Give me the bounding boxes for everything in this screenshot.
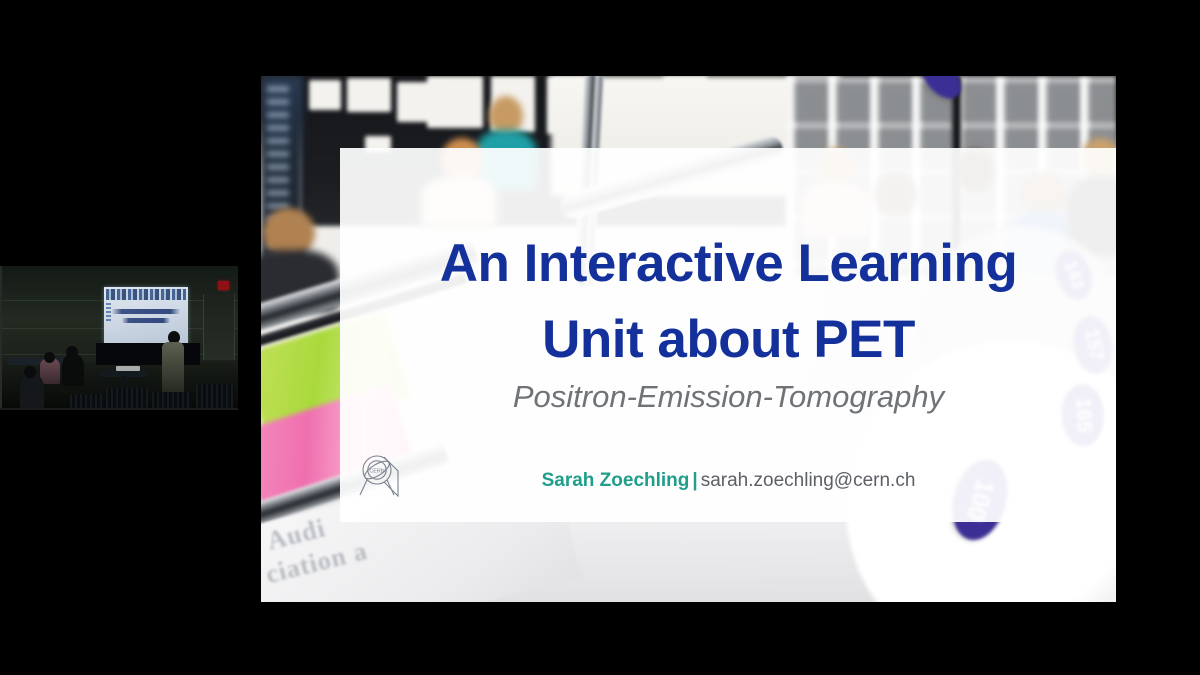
- pip-screen-title-line1: [112, 309, 180, 314]
- pip-screen-header: [106, 289, 186, 300]
- slide-subtitle: Positron-Emission-Tomography: [340, 379, 1116, 415]
- pip-audience-head: [24, 366, 36, 378]
- bg-poster: [347, 78, 391, 112]
- pip-left-border: [0, 266, 2, 410]
- pip-audience-head: [44, 352, 55, 363]
- pip-chair-row: [106, 388, 148, 410]
- pip-audience-person: [20, 374, 44, 410]
- bg-poster: [427, 76, 483, 128]
- author-separator: |: [689, 470, 700, 491]
- bg-poster: [309, 80, 341, 110]
- cern-logo-icon: CERN: [358, 450, 402, 500]
- webcam-pip[interactable]: [0, 266, 238, 410]
- pip-screen-sidebar: [106, 303, 111, 323]
- pip-bottom-border: [0, 408, 238, 410]
- pip-presenter-body: [162, 342, 184, 394]
- slide-title: An Interactive Learning Unit about PET: [340, 226, 1116, 379]
- recording-canvas: Audi ciation a 143 157 165 100: [0, 0, 1200, 675]
- cern-logo-text: CERN: [369, 469, 384, 475]
- pip-door: [203, 294, 235, 360]
- author-name: Sarah Zoechling: [542, 470, 690, 491]
- author-email: sarah.zoechling@cern.ch: [701, 470, 916, 491]
- shared-slide: Audi ciation a 143 157 165 100: [261, 76, 1116, 602]
- pip-chair-row: [196, 384, 234, 410]
- pip-audience-head: [66, 346, 78, 358]
- pip-exit-sign: [218, 281, 229, 290]
- pip-audience-person: [62, 354, 84, 386]
- pip-stage-platform: [96, 343, 200, 365]
- slide-title-line2: Unit about PET: [340, 302, 1116, 378]
- slide-title-line1: An Interactive Learning: [440, 234, 1018, 293]
- pip-laptop: [116, 366, 140, 371]
- slide-title-card: An Interactive Learning Unit about PET P…: [340, 148, 1116, 522]
- pip-screen-title-line2: [122, 318, 170, 323]
- slide-author-line: Sarah Zoechling|sarah.zoechling@cern.ch: [340, 470, 1116, 492]
